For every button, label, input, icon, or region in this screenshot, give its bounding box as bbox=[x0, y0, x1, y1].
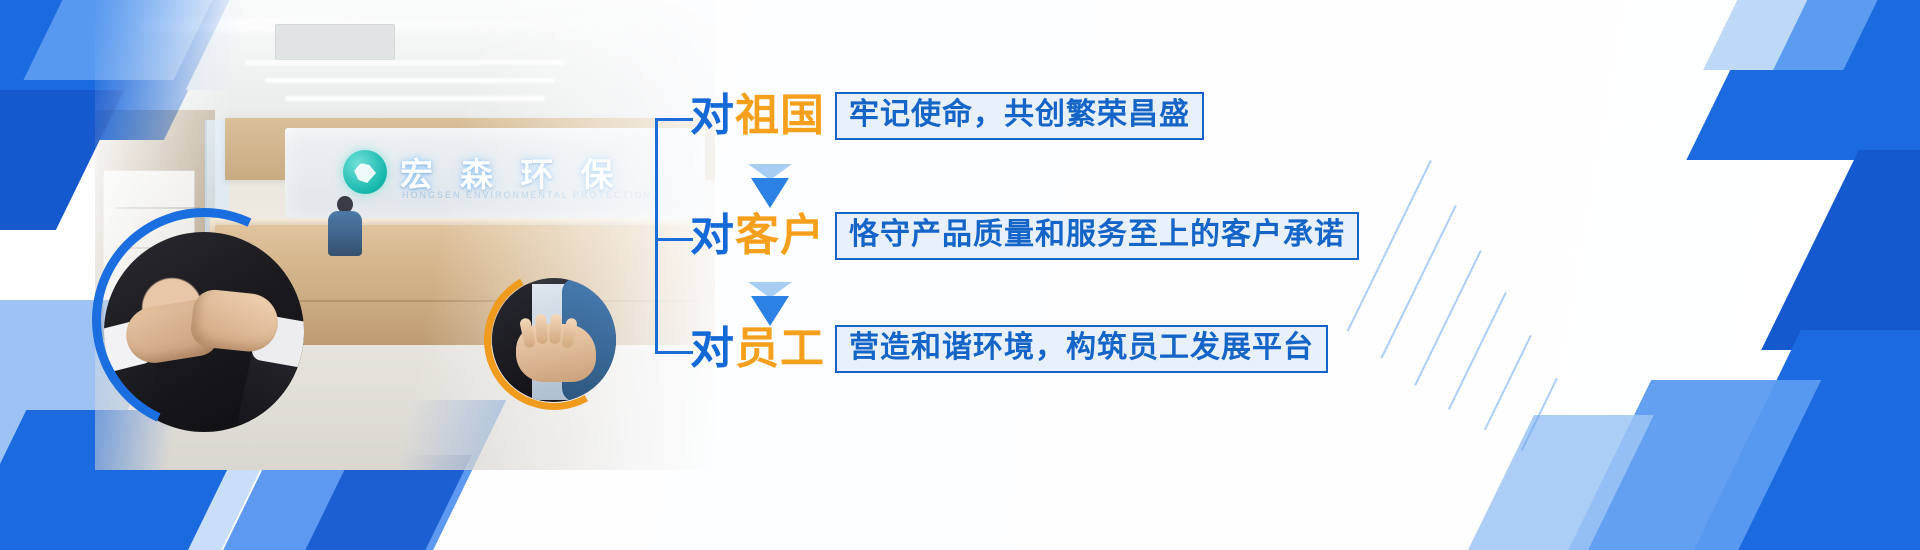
tree-branch-1 bbox=[655, 118, 693, 121]
tree-branch-3 bbox=[655, 351, 693, 354]
values-prefix-3: 对 bbox=[690, 324, 735, 373]
values-phrase-1: 牢记使命，共创繁荣昌盛 bbox=[835, 92, 1204, 140]
values-label-2: 对客户 bbox=[690, 214, 825, 258]
banner-root: 宏 森 环 保 HONGSEN ENVIRONMENTAL PROTECTION bbox=[0, 0, 1920, 550]
values-row-1: 对祖国 牢记使命，共创繁荣昌盛 bbox=[690, 92, 1204, 140]
values-row-2: 对客户 恪守产品质量和服务至上的客户承诺 bbox=[690, 212, 1359, 260]
values-row-3: 对员工 营造和谐环境，构筑员工发展平台 bbox=[690, 325, 1328, 373]
values-tree: 对祖国 牢记使命，共创繁荣昌盛 对客户 恪守产品质量和服务至上的客户承诺 对员工… bbox=[0, 0, 1920, 550]
tree-branch-2 bbox=[655, 238, 693, 241]
values-keyword-2: 客户 bbox=[735, 211, 825, 260]
down-arrow-1-icon bbox=[751, 178, 789, 208]
values-keyword-3: 员工 bbox=[735, 324, 825, 373]
values-phrase-2: 恪守产品质量和服务至上的客户承诺 bbox=[835, 212, 1359, 260]
values-label-3: 对员工 bbox=[690, 327, 825, 371]
down-arrow-2-icon bbox=[751, 296, 789, 326]
values-prefix-1: 对 bbox=[690, 91, 735, 140]
values-keyword-1: 祖国 bbox=[735, 91, 825, 140]
values-prefix-2: 对 bbox=[690, 211, 735, 260]
values-label-1: 对祖国 bbox=[690, 94, 825, 138]
values-phrase-3: 营造和谐环境，构筑员工发展平台 bbox=[835, 325, 1328, 373]
tree-spine-line bbox=[655, 118, 658, 353]
